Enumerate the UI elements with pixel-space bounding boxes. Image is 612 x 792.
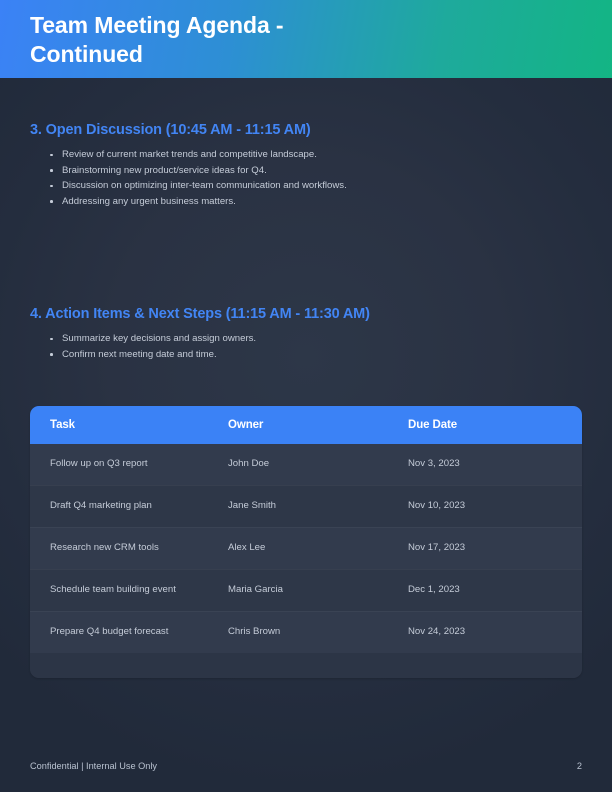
table-row: Prepare Q4 budget forecast Chris Brown N…	[30, 611, 582, 653]
cell-due-date: Nov 24, 2023	[408, 611, 582, 653]
table-row: Schedule team building event Maria Garci…	[30, 569, 582, 611]
slide-content: 3. Open Discussion (10:45 AM - 11:15 AM)…	[0, 78, 612, 678]
cell-due-date: Nov 10, 2023	[408, 485, 582, 527]
table-body: Follow up on Q3 report John Doe Nov 3, 2…	[30, 444, 582, 653]
page-title: Team Meeting Agenda - Continued	[0, 11, 612, 69]
table-row: Draft Q4 marketing plan Jane Smith Nov 1…	[30, 485, 582, 527]
table-header: Task Owner Due Date	[30, 406, 582, 444]
list-item: Confirm next meeting date and time.	[30, 347, 582, 363]
task-table-container: Task Owner Due Date Follow up on Q3 repo…	[30, 406, 582, 678]
section-heading: 3. Open Discussion (10:45 AM - 11:15 AM)	[30, 122, 582, 138]
column-header-task: Task	[30, 406, 228, 444]
page-number: 2	[577, 760, 582, 772]
slide-header: Team Meeting Agenda - Continued	[0, 0, 612, 78]
list-item: Summarize key decisions and assign owner…	[30, 331, 582, 347]
cell-task: Follow up on Q3 report	[30, 444, 228, 486]
cell-owner: Alex Lee	[228, 527, 408, 569]
section-action-items: 4. Action Items & Next Steps (11:15 AM -…	[0, 209, 612, 362]
column-header-due-date: Due Date	[408, 406, 582, 444]
bullet-list: Review of current market trends and comp…	[30, 147, 582, 209]
column-header-owner: Owner	[228, 406, 408, 444]
slide-footer: Confidential | Internal Use Only 2	[0, 740, 612, 792]
section-open-discussion: 3. Open Discussion (10:45 AM - 11:15 AM)…	[0, 78, 612, 209]
table-header-row: Task Owner Due Date	[30, 406, 582, 444]
table-footer-spacer	[30, 653, 582, 678]
list-item: Discussion on optimizing inter-team comm…	[30, 178, 582, 194]
list-item: Addressing any urgent business matters.	[30, 194, 582, 210]
cell-task: Prepare Q4 budget forecast	[30, 611, 228, 653]
cell-task: Draft Q4 marketing plan	[30, 485, 228, 527]
cell-due-date: Dec 1, 2023	[408, 569, 582, 611]
cell-owner: Jane Smith	[228, 485, 408, 527]
list-item: Brainstorming new product/service ideas …	[30, 163, 582, 179]
cell-owner: John Doe	[228, 444, 408, 486]
confidentiality-notice: Confidential | Internal Use Only	[30, 760, 157, 772]
bullet-list: Summarize key decisions and assign owner…	[30, 331, 582, 362]
cell-due-date: Nov 17, 2023	[408, 527, 582, 569]
section-heading: 4. Action Items & Next Steps (11:15 AM -…	[30, 306, 582, 322]
cell-task: Schedule team building event	[30, 569, 228, 611]
table-row: Follow up on Q3 report John Doe Nov 3, 2…	[30, 444, 582, 486]
cell-task: Research new CRM tools	[30, 527, 228, 569]
cell-owner: Maria Garcia	[228, 569, 408, 611]
table-row: Research new CRM tools Alex Lee Nov 17, …	[30, 527, 582, 569]
cell-owner: Chris Brown	[228, 611, 408, 653]
cell-due-date: Nov 3, 2023	[408, 444, 582, 486]
list-item: Review of current market trends and comp…	[30, 147, 582, 163]
task-table: Task Owner Due Date Follow up on Q3 repo…	[30, 406, 582, 653]
slide-page: Team Meeting Agenda - Continued 3. Open …	[0, 0, 612, 792]
